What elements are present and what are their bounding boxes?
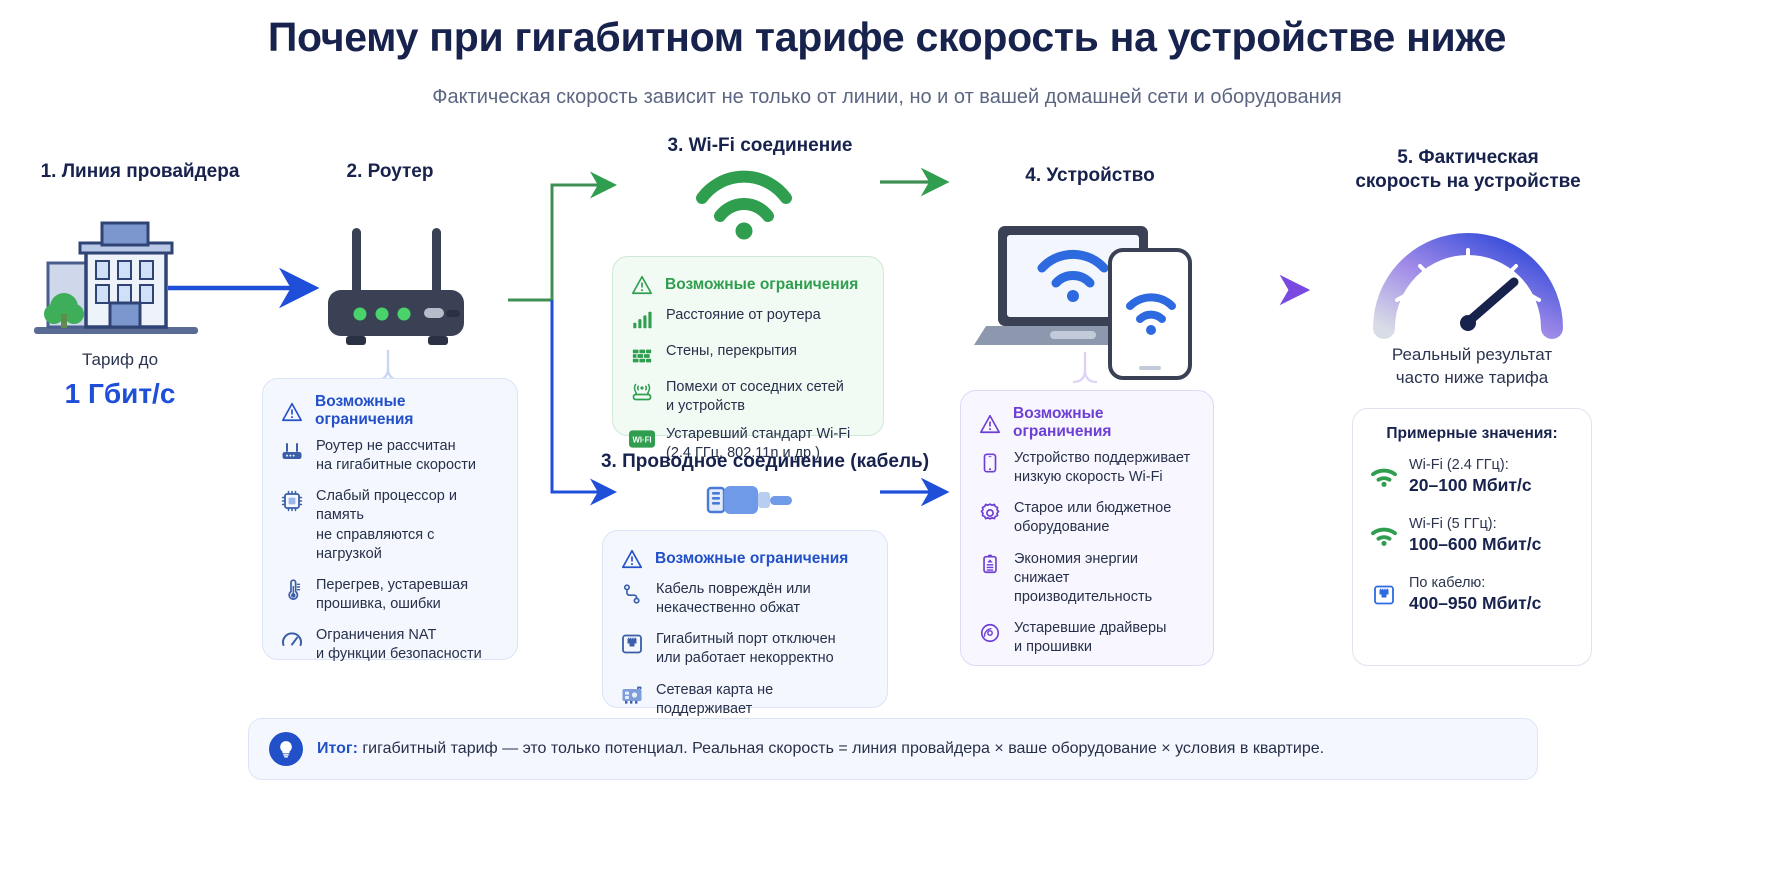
value-name: Wi-Fi (2.4 ГГц): xyxy=(1409,457,1509,473)
summary-bar: Итог: гигабитный тариф — это только поте… xyxy=(248,718,1538,780)
battery-saver-icon xyxy=(977,551,1003,577)
list-item: По кабелю: 400–950 Мбит/с xyxy=(1353,565,1591,624)
infographic-root: Почему при гигабитном тарифе скорость на… xyxy=(0,0,1774,887)
summary-lead: Итог: xyxy=(317,740,358,757)
value-text: Wi-Fi (2.4 ГГц): 20–100 Мбит/с xyxy=(1409,456,1532,497)
list-item-text: Ограничения NAT и функции безопасности xyxy=(316,626,482,664)
card-head-router-label: Возможные ограничения xyxy=(315,393,501,429)
value-number: 400–950 Мбит/с xyxy=(1409,593,1541,613)
list-item: Стены, перекрытия xyxy=(629,342,867,369)
signal-bars-icon xyxy=(629,307,655,333)
list-item-text: Устройство поддерживает низкую скорость … xyxy=(1014,449,1190,487)
step-label-provider: 1. Линия провайдера xyxy=(20,160,260,184)
card-head-cable-label: Возможные ограничения xyxy=(655,550,848,568)
example-values-card: Примерные значения: Wi-Fi (2.4 ГГц): 20–… xyxy=(1352,408,1592,666)
svg-text:WI·FI: WI·FI xyxy=(632,436,651,445)
list-item: Слабый процессор и память не справляются… xyxy=(279,487,501,564)
list-item-text: Расстояние от роутера xyxy=(666,306,821,325)
list-item-text: Слабый процессор и память не справляются… xyxy=(316,487,501,564)
step-label-router: 2. Роутер xyxy=(275,160,505,184)
gear-icon xyxy=(977,500,1003,526)
list-item-text: Старое или бюджетное оборудование xyxy=(1014,499,1171,537)
brick-wall-icon xyxy=(629,343,655,369)
router-limitations-list: Роутер не рассчитан на гигабитные скорос… xyxy=(263,435,517,678)
ethernet-port-icon xyxy=(619,631,645,657)
cable-icon xyxy=(619,581,645,607)
network-card-icon xyxy=(619,682,645,708)
list-item: Роутер не рассчитан на гигабитные скорос… xyxy=(279,437,501,475)
list-item-text: Стены, перекрытия xyxy=(666,342,797,361)
list-item: Устройство поддерживает низкую скорость … xyxy=(977,449,1197,487)
tariff-value: 1 Гбит/с xyxy=(0,378,240,410)
value-text: Wi-Fi (5 ГГц): 100–600 Мбит/с xyxy=(1409,515,1541,556)
step-label-device: 4. Устройство xyxy=(970,164,1210,188)
thermometer-icon xyxy=(279,577,305,603)
router-illustration-icon xyxy=(320,220,472,352)
card-head-device-label: Возможные ограничения xyxy=(1013,405,1197,441)
list-item-text: Помехи от соседних сетей и устройств xyxy=(666,378,844,416)
wifi-limitations-card: Возможные ограничения Расстояние от роут… xyxy=(612,256,884,436)
cable-limitations-card: Возможные ограничения Кабель повреждён и… xyxy=(602,530,888,708)
list-item-text: Перегрев, устаревшая прошивка, ошибки xyxy=(316,576,468,614)
lightbulb-icon xyxy=(269,732,303,766)
example-values-title: Примерные значения: xyxy=(1353,409,1591,447)
interference-icon xyxy=(629,379,655,405)
list-item-text: Гигабитный порт отключен или работает не… xyxy=(656,630,836,668)
step-label-cable: 3. Проводное соединение (кабель) xyxy=(600,450,930,474)
warning-triangle-icon xyxy=(619,546,645,572)
cpu-icon xyxy=(279,488,305,514)
card-head-device: Возможные ограничения xyxy=(961,391,1213,447)
router-limitations-card: Возможные ограничения Роутер не рассчита… xyxy=(262,378,518,660)
list-item: Гигабитный порт отключен или работает не… xyxy=(619,630,871,668)
list-item: Устаревшие драйверы и прошивки xyxy=(977,619,1197,657)
wifi-icon xyxy=(1371,464,1397,490)
ethernet-port-icon xyxy=(1371,582,1397,608)
step-label-wifi: 3. Wi-Fi соединение xyxy=(620,134,900,158)
card-head-router: Возможные ограничения xyxy=(263,379,517,435)
list-item-text: Экономия энергии снижает производительно… xyxy=(1014,550,1197,607)
value-name: Wi-Fi (5 ГГц): xyxy=(1409,516,1497,532)
list-item: Ограничения NAT и функции безопасности xyxy=(279,626,501,664)
smartphone-illustration-icon xyxy=(1106,248,1200,380)
device-limitations-card: Возможные ограничения Устройство поддерж… xyxy=(960,390,1214,666)
wifi-illustration-icon xyxy=(692,172,796,244)
value-number: 20–100 Мбит/с xyxy=(1409,475,1532,495)
list-item: Экономия энергии снижает производительно… xyxy=(977,550,1197,607)
summary-text: Итог: гигабитный тариф — это только поте… xyxy=(317,740,1324,758)
wifi-badge-icon: WI·FI xyxy=(629,426,655,452)
cable-plug-icon xyxy=(706,482,794,518)
list-item-text: Устаревшие драйверы и прошивки xyxy=(1014,619,1166,657)
disc-drivers-icon xyxy=(977,620,1003,646)
value-text: По кабелю: 400–950 Мбит/с xyxy=(1409,574,1541,615)
warning-triangle-icon xyxy=(629,272,655,298)
value-name: По кабелю: xyxy=(1409,575,1485,591)
router-icon xyxy=(279,438,305,464)
speedometer-icon xyxy=(1368,216,1568,338)
step-label-result: 5. Фактическая скорость на устройстве xyxy=(1328,146,1608,194)
gauge-icon xyxy=(279,627,305,653)
list-item: Перегрев, устаревшая прошивка, ошибки xyxy=(279,576,501,614)
device-limitations-list: Устройство поддерживает низкую скорость … xyxy=(961,447,1213,671)
tariff-caption: Тариф до xyxy=(0,350,240,370)
warning-triangle-icon xyxy=(977,411,1003,437)
building-icon xyxy=(28,215,208,340)
wifi-icon xyxy=(1371,523,1397,549)
warning-triangle-icon xyxy=(279,399,305,425)
summary-body: гигабитный тариф — это только потенциал.… xyxy=(358,740,1324,757)
list-item: Кабель повреждён или некачественно обжат xyxy=(619,580,871,618)
list-item: Расстояние от роутера xyxy=(629,306,867,333)
list-item: Wi-Fi (2.4 ГГц): 20–100 Мбит/с xyxy=(1353,447,1591,506)
list-item: Wi-Fi (5 ГГц): 100–600 Мбит/с xyxy=(1353,506,1591,565)
list-item: Старое или бюджетное оборудование xyxy=(977,499,1197,537)
card-head-wifi-label: Возможные ограничения xyxy=(665,276,858,294)
value-number: 100–600 Мбит/с xyxy=(1409,534,1541,554)
list-item-text: Кабель повреждён или некачественно обжат xyxy=(656,580,811,618)
result-caption: Реальный результат часто ниже тарифа xyxy=(1332,344,1612,390)
card-head-cable: Возможные ограничения xyxy=(603,531,887,578)
list-item-text: Роутер не рассчитан на гигабитные скорос… xyxy=(316,437,476,475)
smartphone-icon xyxy=(977,450,1003,476)
card-head-wifi: Возможные ограничения xyxy=(613,257,883,304)
list-item: Помехи от соседних сетей и устройств xyxy=(629,378,867,416)
